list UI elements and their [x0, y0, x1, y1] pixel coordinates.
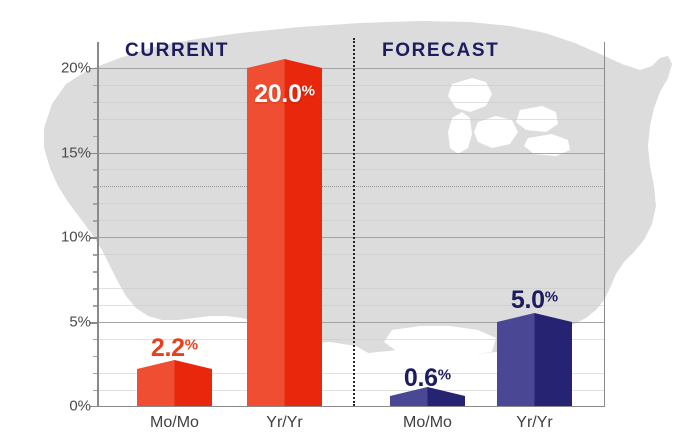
- y-tick-minor: [93, 254, 97, 256]
- y-tick-label-20: 20%: [45, 59, 91, 76]
- gridline-major-15: [97, 153, 605, 154]
- gridline-minor: [97, 102, 605, 103]
- data-label-value: 5.0: [511, 286, 545, 314]
- x-axis-line: [97, 406, 605, 408]
- gridline-minor: [97, 254, 605, 255]
- x-label-forecast-momo: Mo/Mo: [403, 414, 452, 432]
- data-label-value: 0.6: [404, 364, 438, 392]
- y-tick-minor: [93, 85, 97, 87]
- data-label-percent: %: [302, 83, 315, 100]
- data-label-percent: %: [545, 289, 558, 306]
- gridline-minor: [97, 220, 605, 221]
- y-tick-label-0: 0%: [45, 397, 91, 414]
- y-tick-minor: [93, 119, 97, 121]
- gridline-minor: [97, 169, 605, 170]
- x-label-current-momo: Mo/Mo: [150, 414, 199, 432]
- y-tick-minor: [93, 339, 97, 341]
- bar-current-momo[interactable]: [137, 360, 212, 406]
- y-tick-minor: [93, 102, 97, 104]
- bar-current-yryr[interactable]: [247, 59, 322, 406]
- y-tick-minor: [93, 305, 97, 307]
- y-axis-line: [97, 42, 99, 407]
- y-tick-minor: [93, 271, 97, 273]
- panel-divider-dotted: [353, 38, 355, 406]
- panel-heading-forecast: FORECAST: [382, 40, 499, 62]
- y-tick-mark-0: [90, 406, 97, 408]
- gridline-major-20: [97, 68, 605, 69]
- panel-heading-current: CURRENT: [125, 40, 229, 62]
- gridline-minor: [97, 203, 605, 204]
- data-label-value: 20.0: [254, 80, 301, 108]
- reference-line-13pct: [97, 186, 605, 187]
- gridline-minor: [97, 85, 605, 86]
- plot-right-border: [604, 42, 606, 407]
- data-label-forecast-momo: 0.6%: [404, 366, 451, 391]
- inflation-bar-chart: 20% 15% 10% 5% 0% CURRENT FORECAST: [0, 0, 700, 444]
- y-tick-label-10: 10%: [45, 229, 91, 246]
- y-tick-minor: [93, 136, 97, 138]
- x-label-forecast-yryr: Yr/Yr: [516, 414, 552, 432]
- data-label-current-momo: 2.2%: [151, 336, 198, 361]
- y-tick-minor: [93, 169, 97, 171]
- y-tick-mark-20: [90, 68, 97, 70]
- y-tick-mark-10: [90, 237, 97, 239]
- y-tick-label-5: 5%: [45, 314, 91, 331]
- y-tick-minor: [93, 220, 97, 222]
- y-tick-minor: [93, 186, 97, 188]
- bar-forecast-yryr[interactable]: [497, 313, 572, 406]
- y-tick-minor: [93, 288, 97, 290]
- x-label-current-yryr: Yr/Yr: [266, 414, 302, 432]
- y-tick-mark-5: [90, 322, 97, 324]
- y-tick-minor: [93, 373, 97, 375]
- data-label-current-yryr: 20.0%: [254, 82, 315, 107]
- y-tick-minor: [93, 356, 97, 358]
- y-tick-minor: [93, 390, 97, 392]
- gridline-major-10: [97, 237, 605, 238]
- y-tick-label-15: 15%: [45, 144, 91, 161]
- data-label-percent: %: [438, 367, 451, 384]
- data-label-value: 2.2: [151, 334, 185, 362]
- data-label-forecast-yryr: 5.0%: [511, 288, 558, 313]
- data-label-percent: %: [185, 337, 198, 354]
- plot-area: 20% 15% 10% 5% 0% CURRENT FORECAST: [97, 42, 605, 407]
- y-tick-mark-15: [90, 153, 97, 155]
- gridline-minor: [97, 119, 605, 120]
- y-tick-minor: [93, 203, 97, 205]
